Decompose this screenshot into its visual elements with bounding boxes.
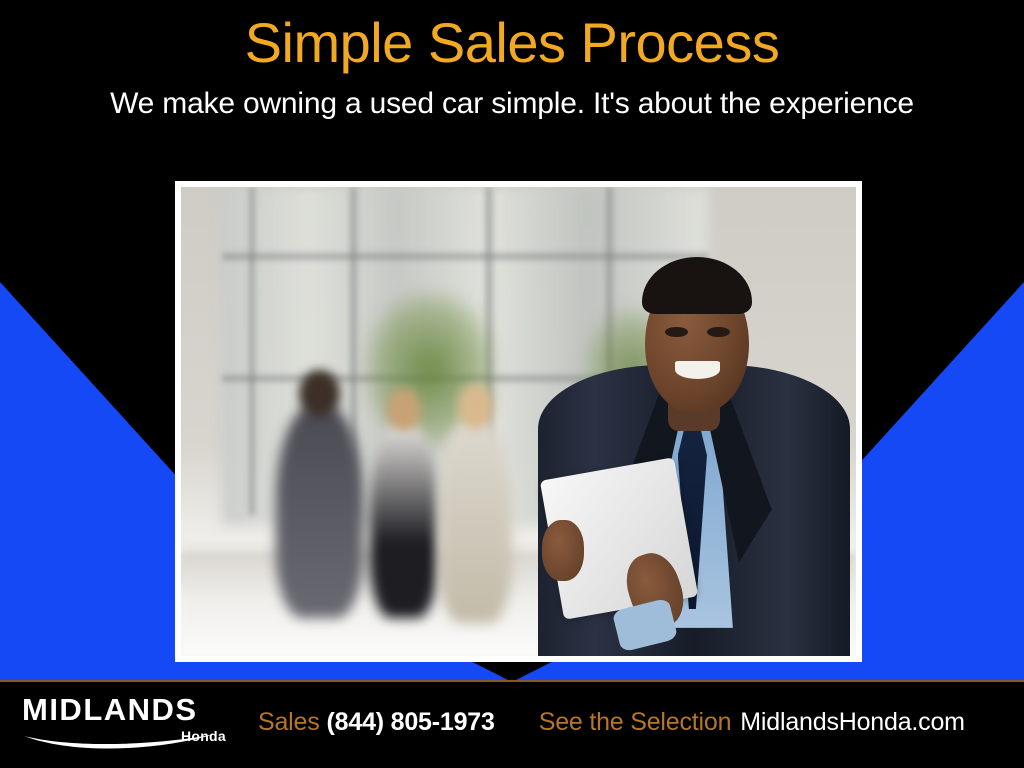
website-url[interactable]: MidlandsHonda.com (740, 708, 965, 737)
page-subtitle: We make owning a used car simple. It's a… (0, 86, 1024, 122)
background-person (370, 422, 438, 619)
sales-label: Sales (258, 708, 320, 737)
background-person-head (299, 370, 340, 417)
background-person-head (458, 384, 493, 429)
selection-label: See the Selection (539, 708, 732, 737)
slide-canvas: Simple Sales Process We make owning a us… (0, 0, 1024, 768)
eye (665, 327, 688, 337)
footer-bar: MIDLANDS Honda Sales (844) 805-1973 See … (0, 680, 1024, 768)
eye (707, 327, 730, 337)
window-mullion (249, 187, 255, 515)
hair (642, 257, 752, 313)
logo-wordmark: MIDLANDS (22, 694, 232, 726)
background-person (438, 417, 512, 623)
foreground-businessman (532, 187, 856, 656)
logo-brand-honda: Honda (181, 728, 226, 744)
sales-phone[interactable]: (844) 805-1973 (327, 708, 495, 737)
photo-frame (175, 181, 862, 662)
background-person-head (387, 389, 421, 431)
hero-photo (181, 187, 856, 656)
dealer-logo[interactable]: MIDLANDS Honda (22, 694, 232, 756)
background-person (276, 403, 364, 619)
footer-contact: Sales (844) 805-1973 See the Selection M… (258, 708, 965, 737)
page-title: Simple Sales Process (0, 12, 1024, 74)
hand-left (542, 520, 584, 581)
